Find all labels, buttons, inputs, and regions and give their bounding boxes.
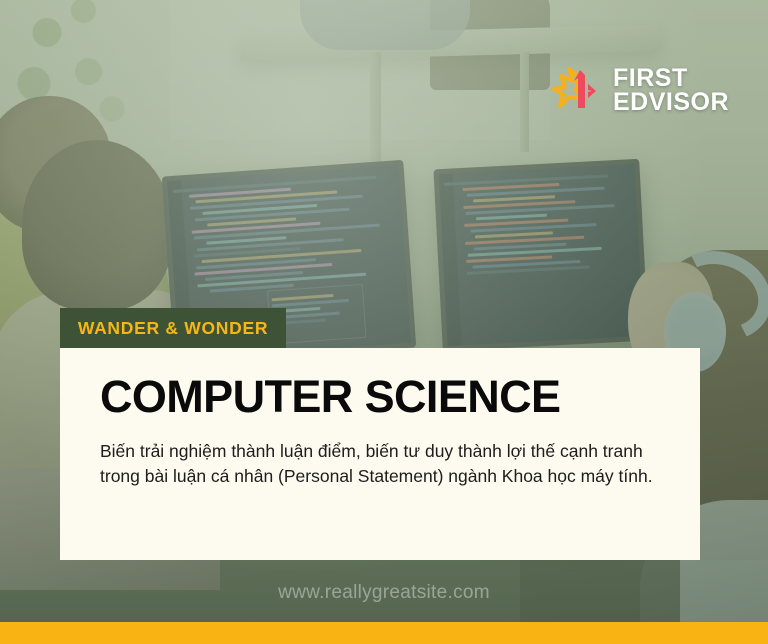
page-description: Biến trải nghiệm thành luận điểm, biến t… — [100, 439, 664, 489]
category-badge: WANDER & WONDER — [60, 308, 286, 348]
content-card: COMPUTER SCIENCE Biến trải nghiệm thành … — [60, 348, 700, 560]
bottom-accent-bar — [0, 622, 768, 644]
star-one-arrow-icon — [552, 64, 604, 116]
brand-line-2: EDVISOR — [613, 90, 729, 115]
brand-wordmark: FIRST EDVISOR — [613, 66, 729, 115]
page-title: COMPUTER SCIENCE — [100, 374, 664, 419]
site-watermark: www.reallygreatsite.com — [0, 582, 768, 604]
category-badge-label: WANDER & WONDER — [78, 318, 268, 339]
brand-line-1: FIRST — [613, 66, 729, 91]
brand-logo: FIRST EDVISOR — [552, 64, 729, 116]
poster: www.reallygreatsite.com FIRST EDVISOR WA… — [0, 0, 768, 644]
